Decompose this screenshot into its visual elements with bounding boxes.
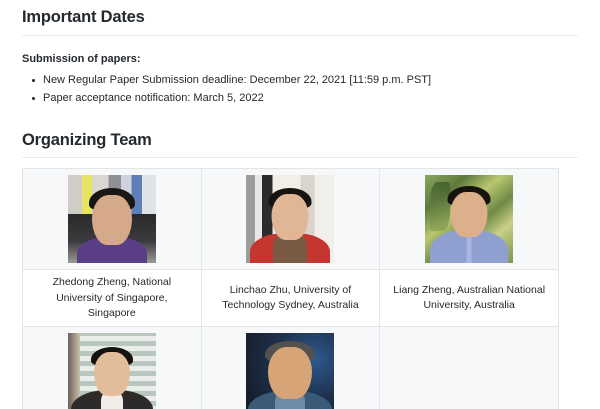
organizing-team-table: Zhedong Zheng, National University of Si… [22, 168, 559, 409]
portrait-zhedong-zheng-icon [68, 175, 156, 263]
submission-lead-text: Submission of papers: [22, 51, 578, 68]
portrait-liang-zheng-icon [425, 175, 513, 263]
table-cell-photo [380, 169, 559, 270]
portrait-yi-yang-icon [68, 333, 156, 409]
portrait-tat-seng-chua-icon [246, 333, 334, 409]
list-item: New Regular Paper Submission deadline: D… [43, 72, 578, 90]
table-cell-photo [23, 327, 202, 409]
member-caption: Linchao Zhu, University of Technology Sy… [210, 283, 372, 313]
table-cell-photo [201, 327, 380, 409]
table-cell-caption: Linchao Zhu, University of Technology Sy… [201, 270, 380, 327]
table-cell-caption: Liang Zheng, Australian National Univers… [380, 270, 559, 327]
portrait-linchao-zhu-icon [246, 175, 334, 263]
table-cell-caption: Zhedong Zheng, National University of Si… [23, 270, 202, 327]
table-cell-photo [23, 169, 202, 270]
member-caption: Liang Zheng, Australian National Univers… [388, 283, 550, 313]
page-title-organizing-team: Organizing Team [22, 122, 578, 159]
table-row [23, 169, 559, 270]
page-content: Important Dates Submission of papers: Ne… [0, 0, 600, 409]
table-cell-empty [380, 327, 559, 409]
table-cell-photo [201, 169, 380, 270]
table-row [23, 327, 559, 409]
important-dates-list: New Regular Paper Submission deadline: D… [22, 72, 578, 108]
member-caption: Zhedong Zheng, National University of Si… [31, 275, 193, 321]
list-item: Paper acceptance notification: March 5, … [43, 90, 578, 108]
page-title-important-dates: Important Dates [22, 0, 578, 36]
table-row: Zhedong Zheng, National University of Si… [23, 270, 559, 327]
